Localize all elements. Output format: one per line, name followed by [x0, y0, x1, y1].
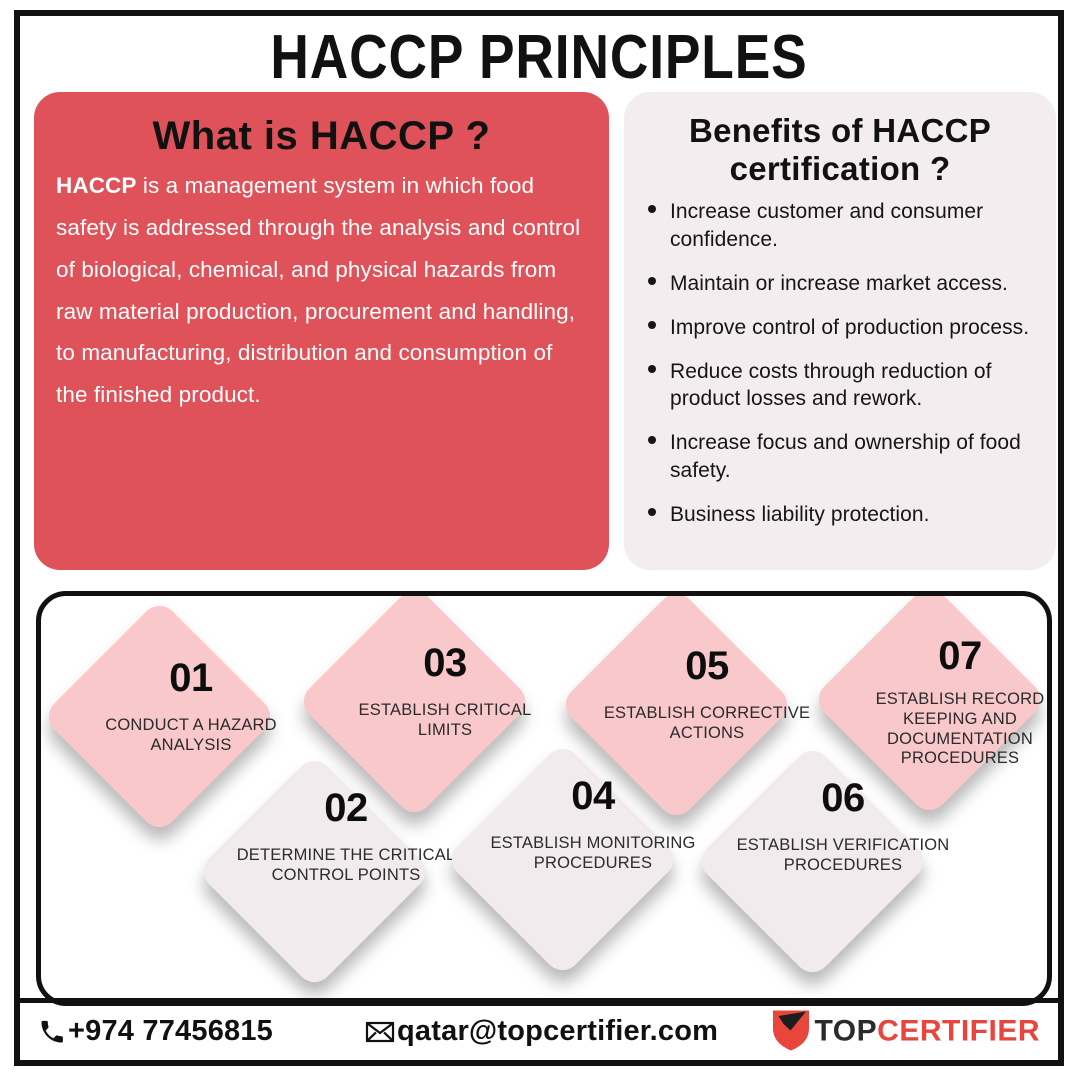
topcertifier-logo[interactable]: TOPCERTIFIER [770, 1006, 1040, 1057]
what-is-haccp-paragraph: is a management system in which food saf… [56, 173, 580, 407]
logo-text-top: TOP [815, 1015, 878, 1048]
phone-icon [38, 1018, 66, 1046]
list-item: Improve control of production process. [648, 314, 1038, 342]
email-contact[interactable]: qatar@topcertifier.com [365, 1015, 718, 1048]
haccp-lead-word: HACCP [56, 173, 137, 198]
benefit-text: Increase focus and ownership of food saf… [670, 431, 1021, 482]
what-is-haccp-heading: What is HACCP ? [56, 114, 587, 159]
list-item: Increase customer and consumer confidenc… [648, 198, 1038, 254]
principles-diagram: 01 CONDUCT A HAZARD ANALYSIS 02 DETERMIN… [36, 591, 1052, 1006]
what-is-haccp-panel: What is HACCP ? HACCP is a management sy… [34, 92, 609, 570]
list-item: Reduce costs through reduction of produc… [648, 358, 1038, 414]
bullet-icon [648, 436, 656, 444]
what-is-haccp-body: HACCP is a management system in which fo… [56, 165, 587, 416]
phone-number: +974 77456815 [68, 1015, 273, 1048]
benefit-text: Reduce costs through reduction of produc… [670, 360, 992, 411]
contact-footer: +974 77456815 qatar@topcertifier.com TOP… [20, 998, 1058, 1060]
benefits-heading: Benefits of HACCP certification ? [638, 112, 1042, 188]
principle-diamond-01 [41, 598, 277, 834]
bullet-icon [648, 365, 656, 373]
benefits-list: Increase customer and consumer confidenc… [638, 198, 1042, 529]
benefit-text: Maintain or increase market access. [670, 272, 1008, 295]
bullet-icon [648, 205, 656, 213]
phone-contact[interactable]: +974 77456815 [38, 1015, 273, 1048]
shield-check-icon [770, 1006, 812, 1057]
bullet-icon [648, 321, 656, 329]
logo-text: TOPCERTIFIER [815, 1015, 1040, 1049]
email-address: qatar@topcertifier.com [397, 1015, 718, 1048]
envelope-icon [365, 1019, 395, 1045]
list-item: Maintain or increase market access. [648, 270, 1038, 298]
list-item: Business liability protection. [648, 501, 1038, 529]
bullet-icon [648, 508, 656, 516]
bullet-icon [648, 277, 656, 285]
logo-text-certifier: CERTIFIER [877, 1015, 1040, 1048]
benefits-panel: Benefits of HACCP certification ? Increa… [624, 92, 1056, 570]
benefit-text: Business liability protection. [670, 503, 929, 526]
page-title: HACCP PRINCIPLES [93, 22, 986, 93]
list-item: Increase focus and ownership of food saf… [648, 429, 1038, 485]
poster-frame: HACCP PRINCIPLES What is HACCP ? HACCP i… [14, 10, 1064, 1066]
benefit-text: Improve control of production process. [670, 316, 1029, 339]
benefit-text: Increase customer and consumer confidenc… [670, 200, 983, 251]
